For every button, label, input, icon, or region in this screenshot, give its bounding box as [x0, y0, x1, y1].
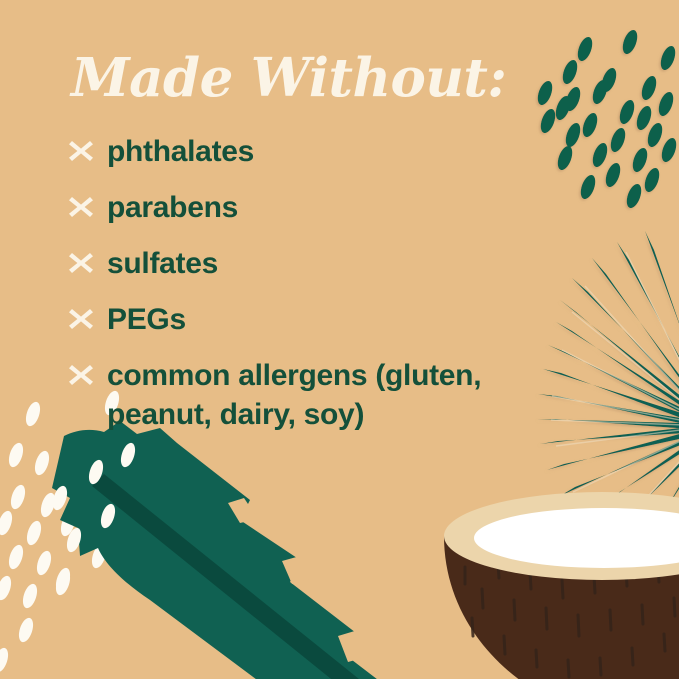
list-item: common allergens (gluten, peanut, dairy,… [68, 356, 588, 434]
banana-leaf-notches [228, 498, 370, 662]
x-mark-icon [68, 138, 94, 164]
list-item-label: PEGs [107, 300, 186, 339]
x-mark-icon [68, 250, 94, 276]
poster-canvas: Made Without: phthalates parabens [0, 0, 679, 679]
banana-leaf-midrib [92, 474, 400, 679]
list-item: phthalates [68, 132, 588, 171]
list-item: PEGs [68, 300, 588, 339]
x-mark-icon [68, 194, 94, 220]
banana-leaf-icon [52, 421, 420, 679]
coconut-half-icon [444, 492, 679, 679]
list-item-label: phthalates [107, 132, 254, 171]
list-item-label: sulfates [107, 244, 218, 283]
list-item: sulfates [68, 244, 588, 283]
page-title: Made Without: [71, 49, 506, 107]
list-item-label: common allergens (gluten, peanut, dairy,… [107, 356, 562, 434]
list-item-label: parabens [107, 188, 238, 227]
x-mark-icon [68, 362, 94, 388]
list-item: parabens [68, 188, 588, 227]
made-without-list: phthalates parabens sulfates [68, 132, 588, 434]
seed-dots-icon [50, 441, 138, 597]
x-mark-icon [68, 306, 94, 332]
